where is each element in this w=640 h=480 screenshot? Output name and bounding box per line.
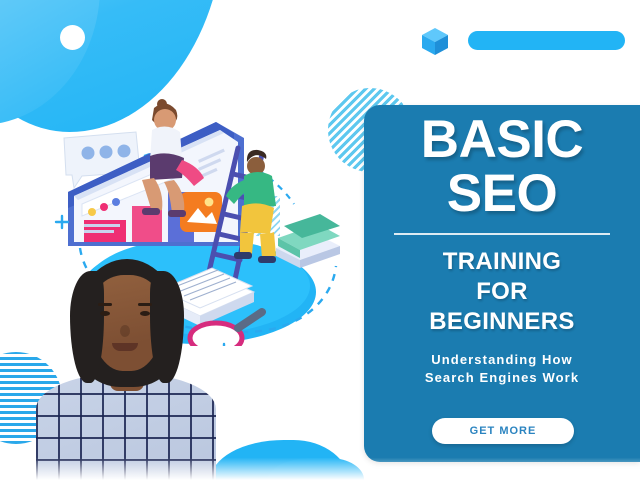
portrait-eyebrow-right [138,303,152,306]
content-panel: BASIC SEO TRAINING FOR BEGINNERS Underst… [364,105,640,462]
portrait-mouth [112,343,138,351]
subtitle-line-2: FOR [364,280,640,304]
tagline-line-1: Understanding How [364,351,640,369]
portrait-eyebrow-left [98,303,112,306]
poster-canvas: BASIC SEO TRAINING FOR BEGINNERS Underst… [0,0,640,480]
portrait-hair-left [70,271,104,383]
subtitle-line-1: TRAINING [364,250,640,274]
title-line-1: BASIC [364,113,640,166]
portrait-hair-right [150,271,184,383]
title-divider [394,233,610,235]
title-line-2: SEO [364,167,640,220]
header-pill-bar[interactable] [468,31,625,50]
cube-icon [420,26,450,56]
portrait-nose [120,325,130,337]
portrait-eye-left [100,311,110,316]
subtitle-line-3: BEGINNERS [364,310,640,334]
get-more-button[interactable]: GET MORE [432,418,574,444]
tagline-line-2: Search Engines Work [364,369,640,387]
white-dot-decor [60,25,85,50]
presenter-portrait [36,255,216,480]
tagline: Understanding How Search Engines Work [364,351,640,386]
portrait-eye-right [140,311,150,316]
